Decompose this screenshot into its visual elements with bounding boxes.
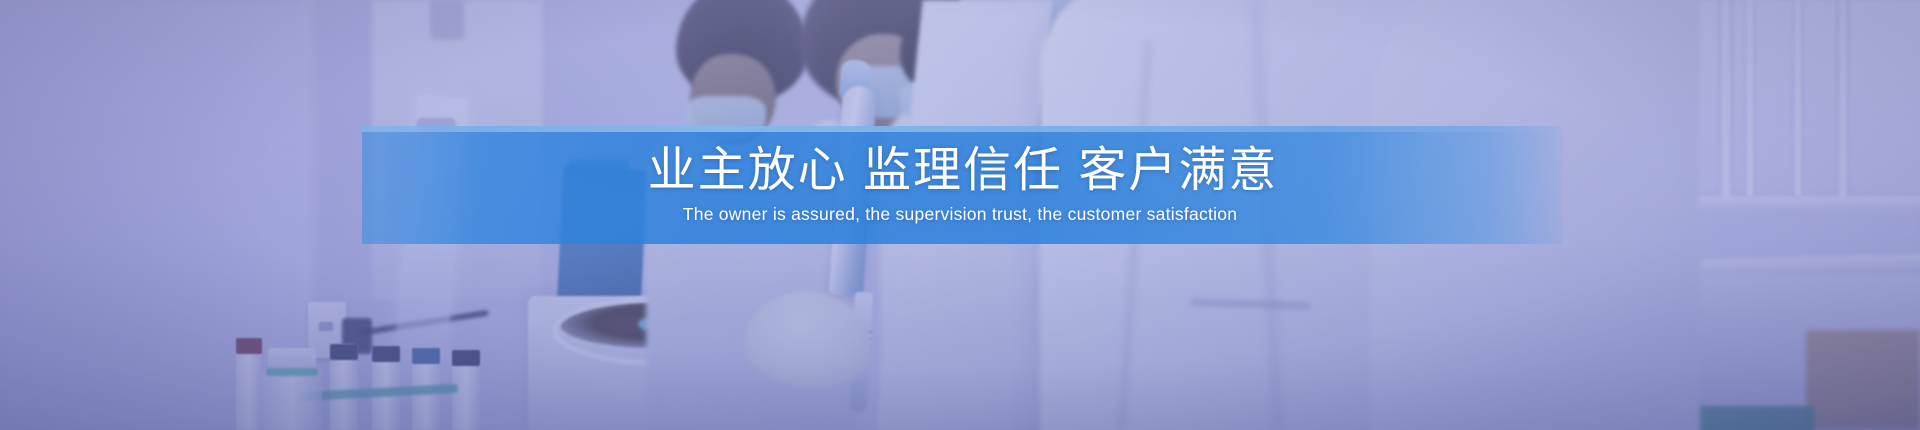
banner-subheadline: The owner is assured, the supervision tr… — [683, 204, 1237, 225]
banner-text-block: 业主放心 监理信任 客户满意 The owner is assured, the… — [0, 126, 1920, 244]
lab-promo-banner: 业主放心 监理信任 客户满意 The owner is assured, the… — [0, 0, 1920, 430]
banner-headline: 业主放心 监理信任 客户满意 — [642, 145, 1279, 197]
